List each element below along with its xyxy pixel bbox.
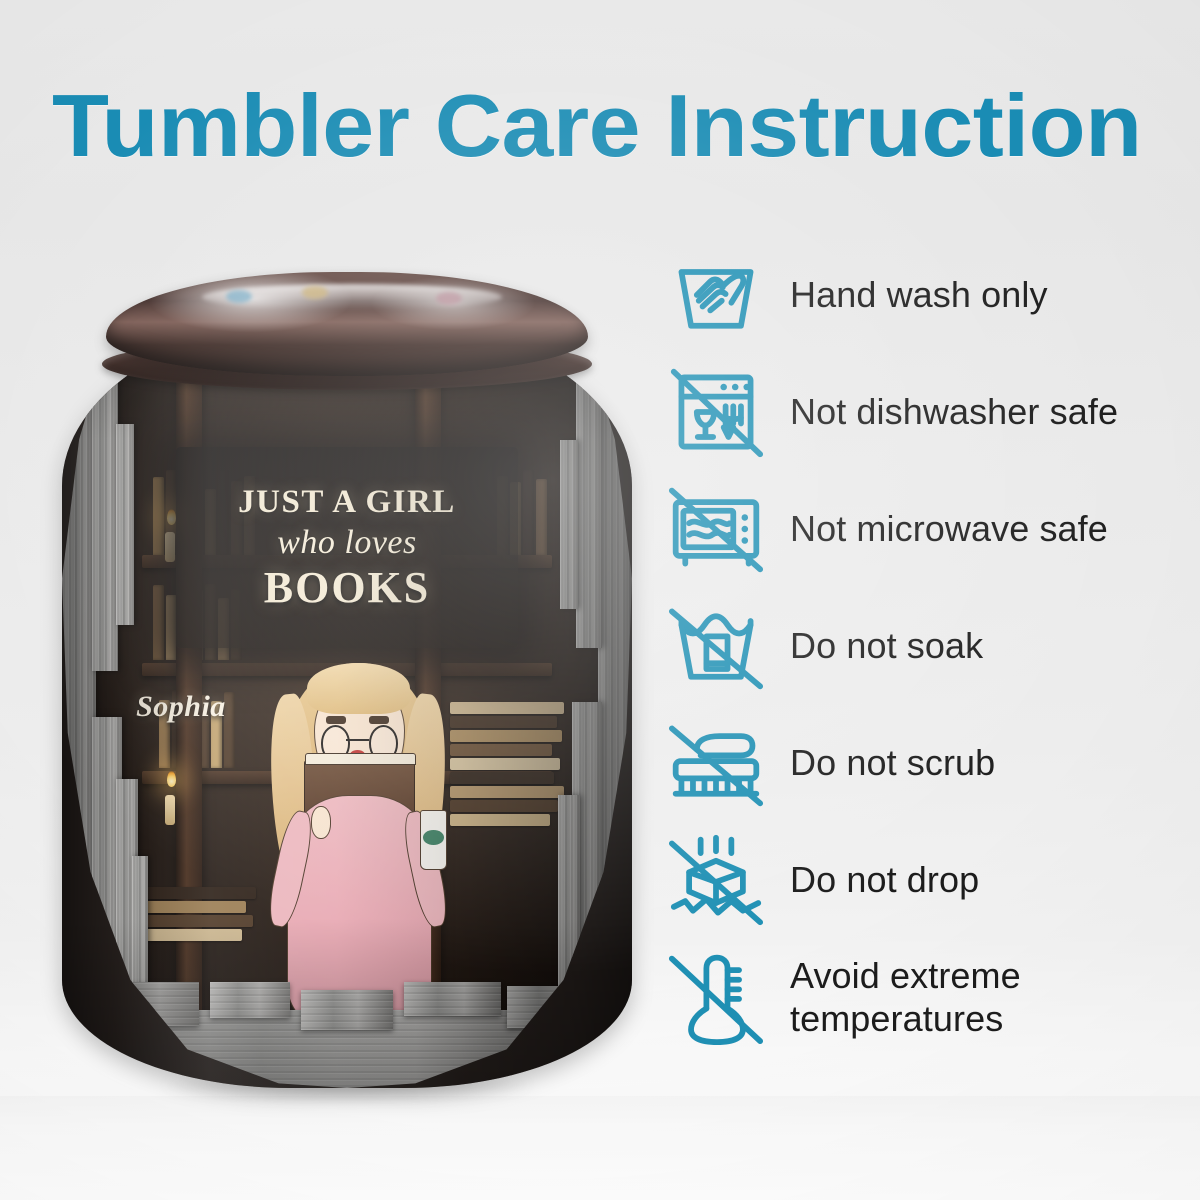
quote-line-3: BOOKS (264, 564, 431, 612)
coffee-cup (420, 810, 448, 870)
care-item-label: Do not drop (790, 858, 979, 901)
quote-line-1: JUST A GIRL (238, 484, 456, 520)
tumbler-lid (106, 272, 588, 376)
no-extreme-temp-icon (668, 949, 764, 1045)
care-item-label: Not microwave safe (790, 507, 1108, 550)
design-quote: JUST A GIRL who loves BOOKS (176, 447, 518, 648)
care-instruction-page: Tumbler Care Instruction (0, 0, 1200, 1200)
care-item-no-microwave: Not microwave safe (668, 470, 1188, 587)
library-scene: JUST A GIRL who loves BOOKS Sophia (62, 316, 632, 1088)
care-item-label: Do not scrub (790, 741, 995, 784)
care-item-no-extreme-temp: Avoid extreme temperatures (668, 938, 1188, 1055)
product-image-tumbler: JUST A GIRL who loves BOOKS Sophia (62, 272, 632, 1098)
care-item-no-scrub: Do not scrub (668, 704, 1188, 821)
surface-backdrop (0, 1096, 1200, 1200)
no-microwave-icon (668, 481, 764, 577)
page-title: Tumbler Care Instruction (52, 78, 1200, 174)
no-scrub-icon (668, 715, 764, 811)
care-item-label: Avoid extreme temperatures (790, 954, 1021, 1040)
tumbler-body: JUST A GIRL who loves BOOKS Sophia (62, 316, 632, 1088)
care-item-no-dishwasher: Not dishwasher safe (668, 353, 1188, 470)
care-item-hand-wash: Hand wash only (668, 236, 1188, 353)
care-item-label: Do not soak (790, 624, 983, 667)
care-item-label: Not dishwasher safe (790, 390, 1118, 433)
no-dishwasher-icon (668, 364, 764, 460)
care-item-no-soak: Do not soak (668, 587, 1188, 704)
no-soak-icon (668, 598, 764, 694)
care-item-label: Hand wash only (790, 273, 1048, 316)
care-item-no-drop: Do not drop (668, 821, 1188, 938)
girl-character-illustration (273, 656, 444, 1042)
quote-line-2: who loves (277, 522, 417, 564)
no-drop-icon (668, 832, 764, 928)
hand-wash-icon (668, 247, 764, 343)
personalized-name: Sophia (136, 690, 226, 724)
care-instruction-list: Hand wash only Not dishwa (668, 236, 1188, 1055)
